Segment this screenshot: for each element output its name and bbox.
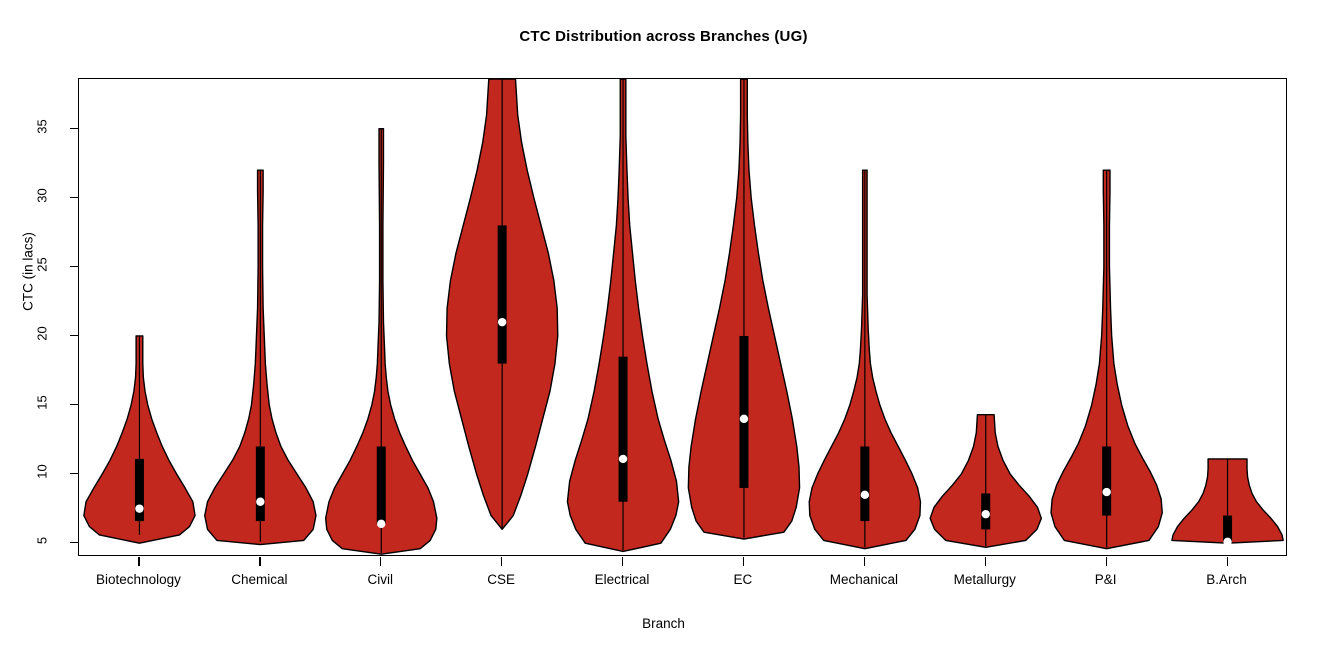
iqr-box: [1102, 446, 1111, 515]
iqr-box: [377, 446, 386, 523]
violin-chemical: [205, 170, 316, 544]
x-axis-tick-label-metallurgy: Metallurgy: [954, 572, 1016, 587]
x-axis-tick-label-b-arch: B.Arch: [1206, 572, 1247, 587]
x-axis-tick: [259, 557, 260, 566]
x-axis-tick: [743, 557, 744, 566]
violin-b-arch: [1172, 459, 1283, 546]
x-axis-tick-label-cse: CSE: [487, 572, 515, 587]
y-axis-tick-label: 20: [35, 313, 50, 353]
violin-plot-figure: CTC Distribution across Branches (UG) CT…: [0, 0, 1327, 653]
x-axis-label: Branch: [0, 616, 1327, 631]
x-axis-tick-label-ec: EC: [734, 572, 753, 587]
violin-canvas: [79, 79, 1288, 557]
violin-ec: [688, 79, 799, 539]
y-axis-label: CTC (in lacs): [21, 192, 36, 352]
median-point: [1102, 488, 1110, 496]
violin-mechanical: [809, 170, 920, 549]
y-axis-tick-label: 10: [35, 452, 50, 492]
x-axis-tick: [985, 557, 986, 566]
iqr-box: [256, 446, 265, 521]
x-axis-tick: [622, 557, 623, 566]
median-point: [861, 491, 869, 499]
violin-p-i: [1051, 170, 1162, 549]
x-axis-tick-label-chemical: Chemical: [231, 572, 287, 587]
median-point: [982, 510, 990, 518]
x-axis-tick-label-p-i: P&I: [1095, 572, 1117, 587]
iqr-box: [860, 446, 869, 521]
iqr-box: [498, 225, 507, 363]
violin-biotechnology: [84, 336, 195, 543]
x-axis-tick: [138, 557, 139, 566]
x-axis-tick: [864, 557, 865, 566]
median-point: [498, 318, 506, 326]
median-point: [1223, 538, 1231, 546]
median-point: [135, 504, 143, 512]
plot-panel: [78, 78, 1287, 556]
violin-cse: [447, 79, 558, 529]
page-title: CTC Distribution across Branches (UG): [0, 28, 1327, 45]
x-axis-tick: [380, 557, 381, 566]
median-point: [619, 455, 627, 463]
x-axis-tick-label-biotechnology: Biotechnology: [96, 572, 181, 587]
median-point: [256, 498, 264, 506]
x-axis-tick: [501, 557, 502, 566]
iqr-box: [619, 357, 628, 502]
x-axis-tick: [1106, 557, 1107, 566]
y-axis-tick-label: 5: [35, 521, 50, 561]
x-axis-tick-label-electrical: Electrical: [595, 572, 650, 587]
y-axis-tick-label: 30: [35, 175, 50, 215]
median-point: [740, 415, 748, 423]
x-axis-tick: [1227, 557, 1228, 566]
y-axis-tick-label: 35: [35, 106, 50, 146]
x-axis-tick-label-civil: Civil: [368, 572, 394, 587]
violin-civil: [326, 129, 437, 555]
y-axis-tick-label: 25: [35, 244, 50, 284]
y-axis-tick-label: 15: [35, 383, 50, 423]
violin-metallurgy: [930, 415, 1041, 548]
x-axis-tick-label-mechanical: Mechanical: [830, 572, 898, 587]
iqr-box: [739, 336, 748, 488]
median-point: [377, 520, 385, 528]
violin-electrical: [567, 79, 678, 551]
